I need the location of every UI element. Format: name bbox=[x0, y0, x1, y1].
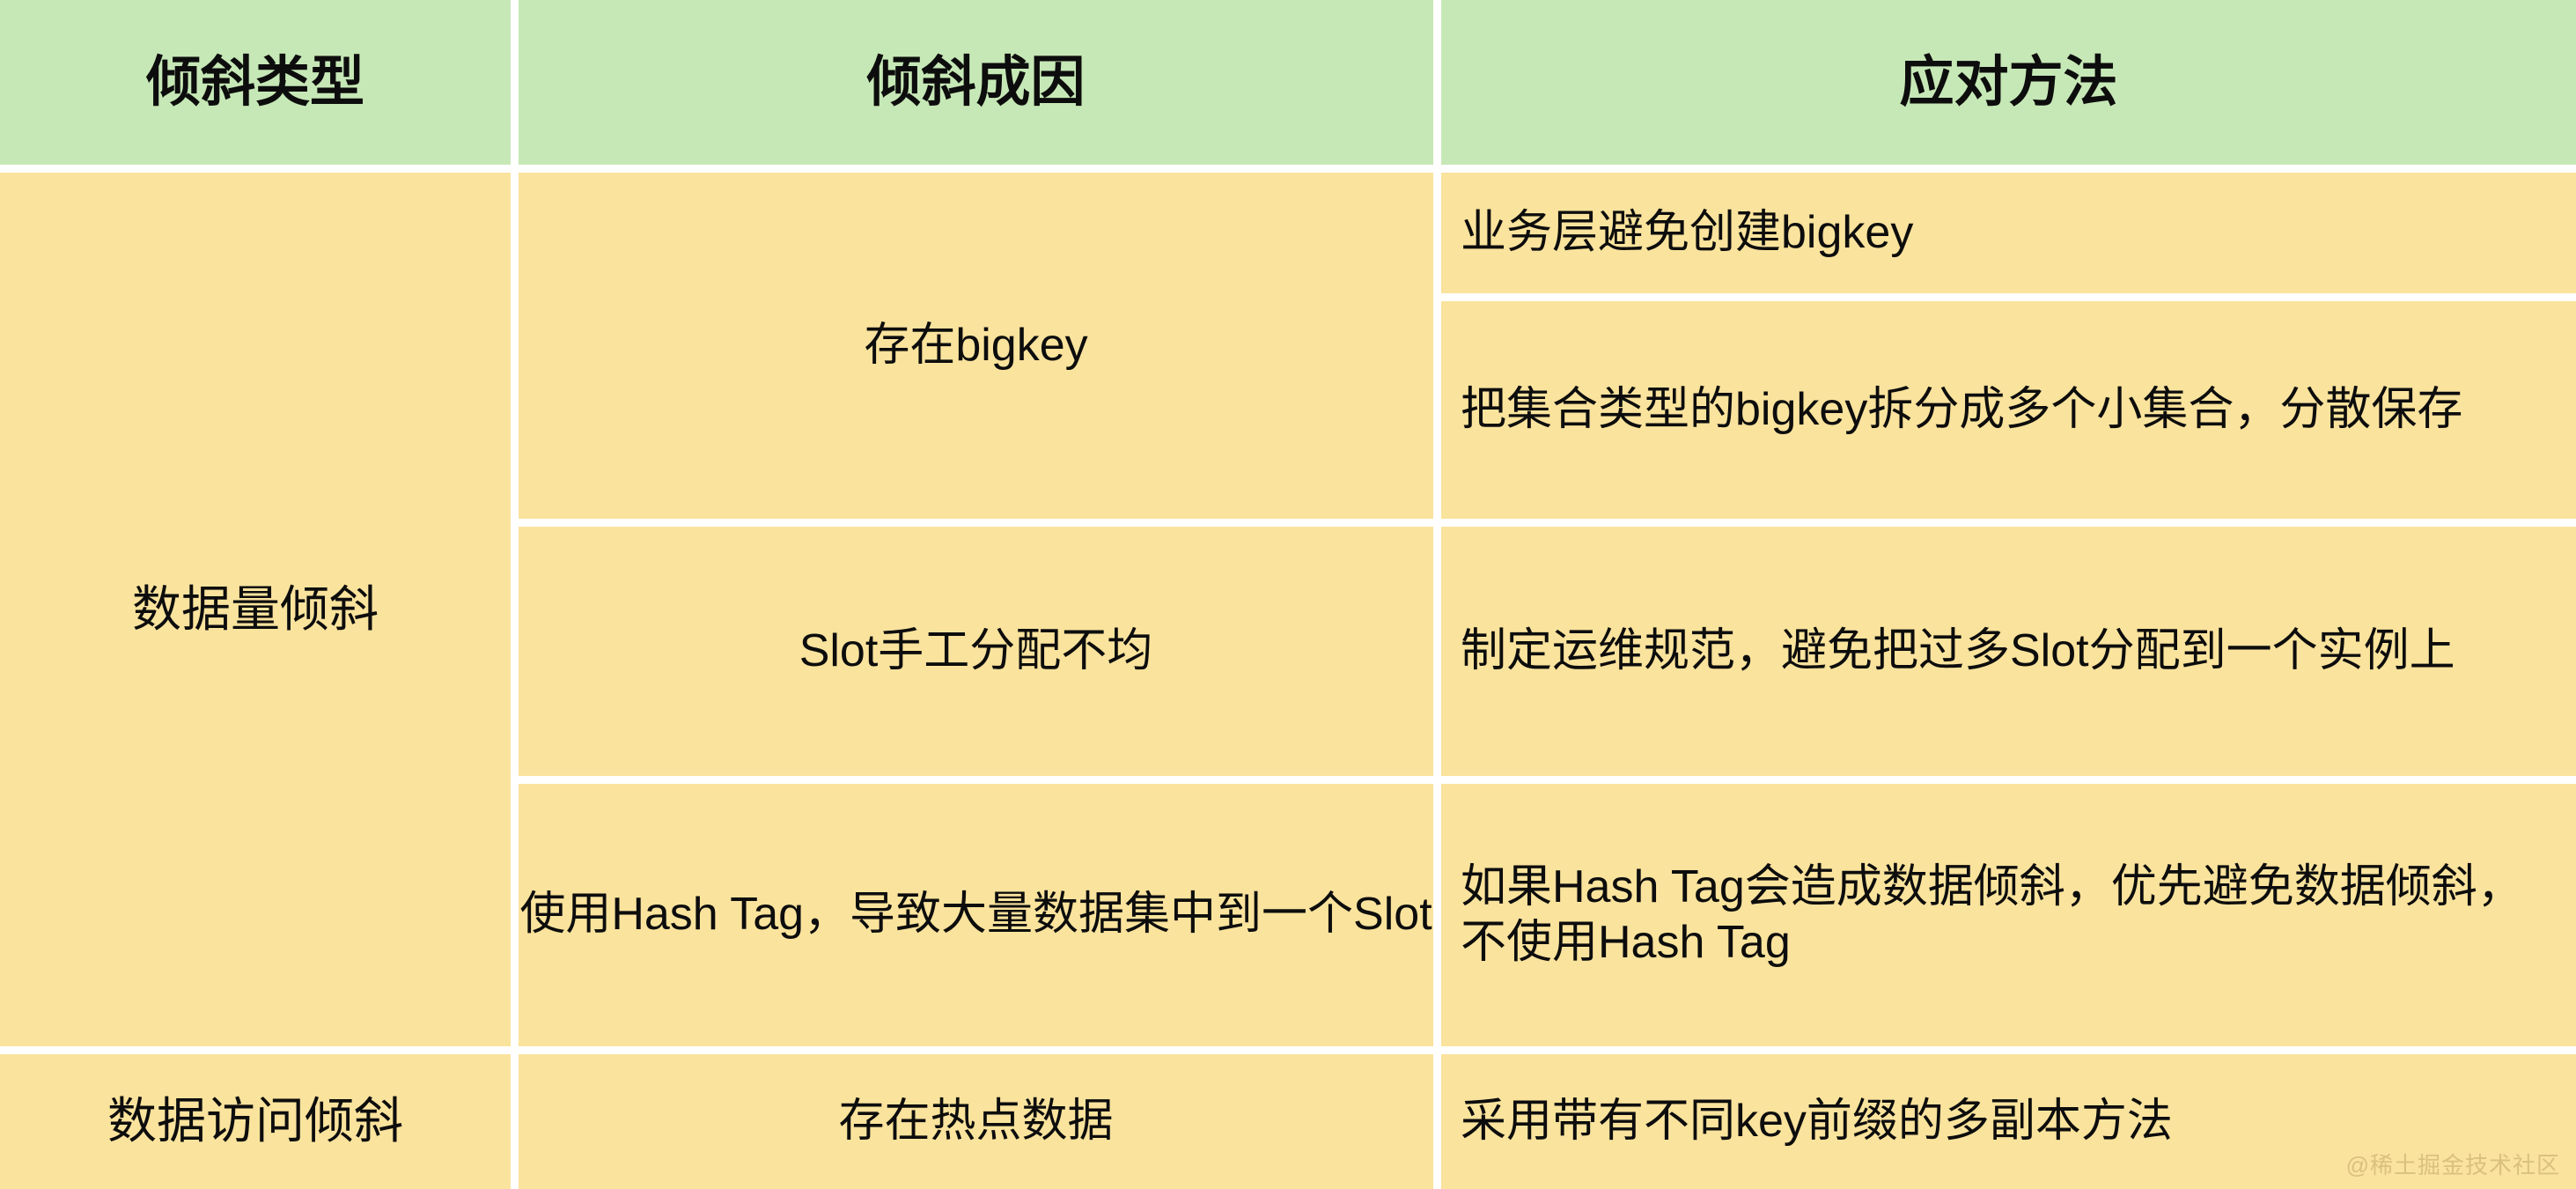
cell-fix-slot-manual: 制定运维规范，避免把过多Slot分配到一个实例上 bbox=[1433, 527, 2576, 784]
cell-cause-bigkey: 存在bigkey bbox=[511, 173, 1433, 527]
skew-summary-table: 倾斜类型 倾斜成因 应对方法 数据量倾斜 存在bigkey 业务层避免创建big… bbox=[0, 0, 2576, 1189]
nested-fix-table-bigkey: 业务层避免创建bigkey 把集合类型的bigkey拆分成多个小集合，分散保存 bbox=[1441, 173, 2576, 519]
cell-skew-type-data-access: 数据访问倾斜 bbox=[0, 1054, 511, 1189]
column-header-skew-type: 倾斜类型 bbox=[0, 0, 511, 173]
cell-fix-hotspot: 采用带有不同key前缀的多副本方法 bbox=[1433, 1054, 2576, 1189]
cell-skew-type-data-volume: 数据量倾斜 bbox=[0, 173, 511, 1054]
table-container: 倾斜类型 倾斜成因 应对方法 数据量倾斜 存在bigkey 业务层避免创建big… bbox=[0, 0, 2576, 1189]
nested-row: 把集合类型的bigkey拆分成多个小集合，分散保存 bbox=[1441, 301, 2576, 519]
column-header-skew-cause: 倾斜成因 bbox=[511, 0, 1433, 173]
cell-fix-hash-tag: 如果Hash Tag会造成数据倾斜，优先避免数据倾斜，不使用Hash Tag bbox=[1433, 784, 2576, 1054]
cell-fix-split-bigkey: 把集合类型的bigkey拆分成多个小集合，分散保存 bbox=[1441, 301, 2576, 519]
cell-fix-bigkey-group: 业务层避免创建bigkey 把集合类型的bigkey拆分成多个小集合，分散保存 bbox=[1433, 173, 2576, 527]
table-row: 数据访问倾斜 存在热点数据 采用带有不同key前缀的多副本方法 bbox=[0, 1054, 2576, 1189]
column-header-countermeasure: 应对方法 bbox=[1433, 0, 2576, 173]
cell-cause-hash-tag: 使用Hash Tag，导致大量数据集中到一个Slot bbox=[511, 784, 1433, 1054]
cell-fix-avoid-bigkey: 业务层避免创建bigkey bbox=[1441, 173, 2576, 301]
table-header: 倾斜类型 倾斜成因 应对方法 bbox=[0, 0, 2576, 173]
cell-cause-hotspot: 存在热点数据 bbox=[511, 1054, 1433, 1189]
header-row: 倾斜类型 倾斜成因 应对方法 bbox=[0, 0, 2576, 173]
cell-cause-slot-manual: Slot手工分配不均 bbox=[511, 527, 1433, 784]
table-body: 数据量倾斜 存在bigkey 业务层避免创建bigkey 把集合类型的bigke… bbox=[0, 173, 2576, 1189]
table-row: 数据量倾斜 存在bigkey 业务层避免创建bigkey 把集合类型的bigke… bbox=[0, 173, 2576, 527]
nested-row: 业务层避免创建bigkey bbox=[1441, 173, 2576, 301]
